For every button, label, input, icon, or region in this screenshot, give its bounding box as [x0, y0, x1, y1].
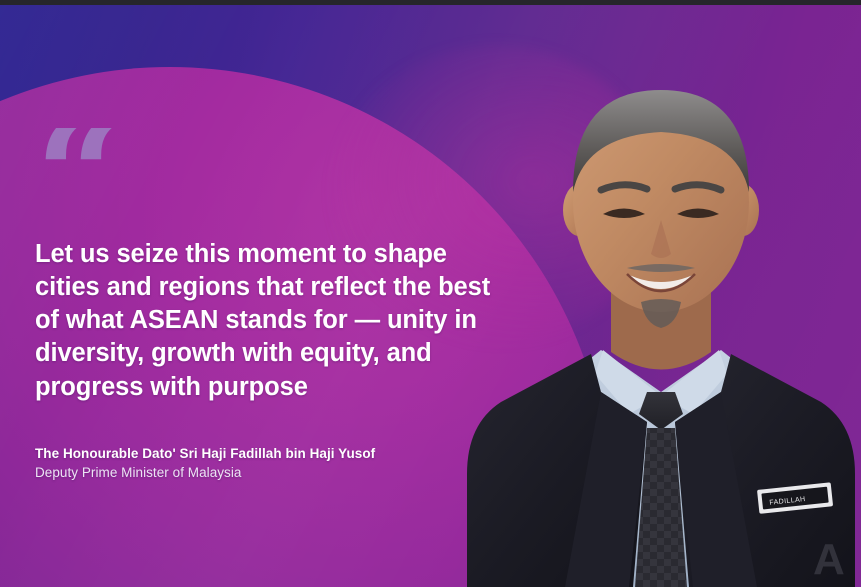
quotation-mark-icon: “ [35, 128, 505, 226]
speaker-portrait: FADILLAH A [461, 62, 861, 587]
quote-slide: “ Let us seize this moment to shape citi… [0, 0, 861, 587]
quote-text: Let us seize this moment to shape cities… [35, 238, 505, 404]
top-dark-strip [0, 0, 861, 5]
attribution-role: Deputy Prime Minister of Malaysia [35, 465, 505, 480]
portrait-illustration: FADILLAH A [461, 62, 861, 587]
quote-content-block: “ Let us seize this moment to shape citi… [35, 128, 505, 480]
attribution-name: The Honourable Dato' Sri Haji Fadillah b… [35, 446, 505, 461]
attribution: The Honourable Dato' Sri Haji Fadillah b… [35, 446, 505, 480]
portrait-watermark: A [813, 535, 845, 584]
